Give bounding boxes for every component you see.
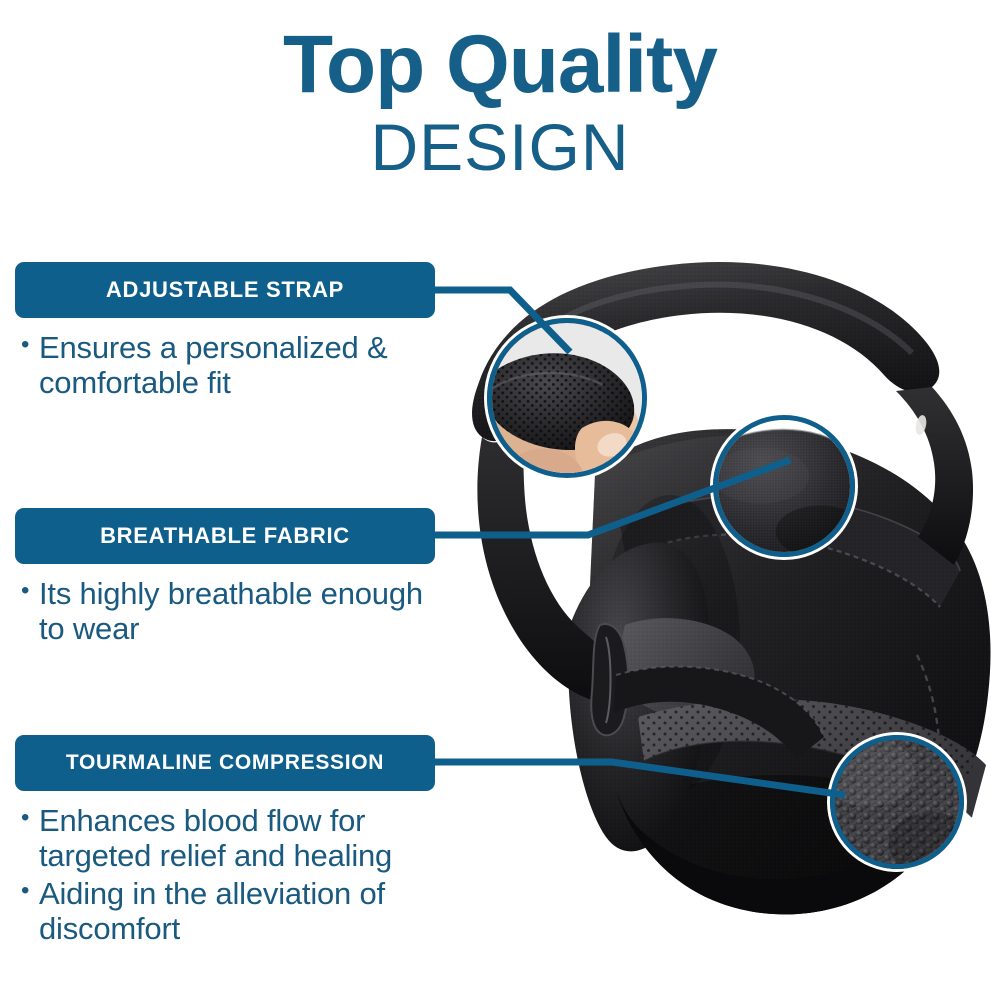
- bullet-text: Enhances blood flow for targeted relief …: [39, 803, 435, 873]
- callout-title-chip[interactable]: ADJUSTABLE STRAP: [15, 262, 435, 318]
- bullet-dot-icon: •: [21, 576, 39, 606]
- title-line-secondary: DESIGN: [0, 114, 1000, 180]
- callout-title-chip[interactable]: TOURMALINE COMPRESSION: [15, 735, 435, 791]
- callout-body: • Its highly breathable enough to wear: [15, 576, 435, 646]
- bullet-item: • Its highly breathable enough to wear: [21, 576, 435, 646]
- bullet-dot-icon: •: [21, 330, 39, 360]
- callout-title-chip[interactable]: BREATHABLE FABRIC: [15, 508, 435, 564]
- bullet-dot-icon: •: [21, 803, 39, 833]
- callout-body: • Ensures a personalized & comfortable f…: [15, 330, 435, 400]
- callout-title: TOURMALINE COMPRESSION: [66, 751, 384, 775]
- callout-title: ADJUSTABLE STRAP: [106, 277, 344, 303]
- title-line-primary: Top Quality: [0, 24, 1000, 106]
- page-title: Top Quality DESIGN: [0, 24, 1000, 180]
- callout-title: BREATHABLE FABRIC: [100, 523, 350, 549]
- bullet-dot-icon: •: [21, 876, 39, 906]
- callout-breathable-fabric[interactable]: BREATHABLE FABRIC • Its highly breathabl…: [15, 508, 435, 646]
- bullet-item: • Aiding in the alleviation of discomfor…: [21, 876, 435, 946]
- bullet-text: Its highly breathable enough to wear: [39, 576, 435, 646]
- callout-adjustable-strap[interactable]: ADJUSTABLE STRAP • Ensures a personalize…: [15, 262, 435, 400]
- magnifier-tourmaline-compression: [830, 735, 964, 869]
- callout-tourmaline-compression[interactable]: TOURMALINE COMPRESSION • Enhances blood …: [15, 735, 435, 946]
- magnifier-breathable-fabric: [713, 415, 855, 557]
- infographic-canvas: Top Quality DESIGN: [0, 0, 1000, 1000]
- bullet-text: Ensures a personalized & comfortable fit: [39, 330, 435, 400]
- callout-body: • Enhances blood flow for targeted relie…: [15, 803, 435, 946]
- bullet-text: Aiding in the alleviation of discomfort: [39, 876, 435, 946]
- bullet-item: • Enhances blood flow for targeted relie…: [21, 803, 435, 873]
- bullet-item: • Ensures a personalized & comfortable f…: [21, 330, 435, 400]
- magnifier-adjustable-strap: [487, 318, 647, 478]
